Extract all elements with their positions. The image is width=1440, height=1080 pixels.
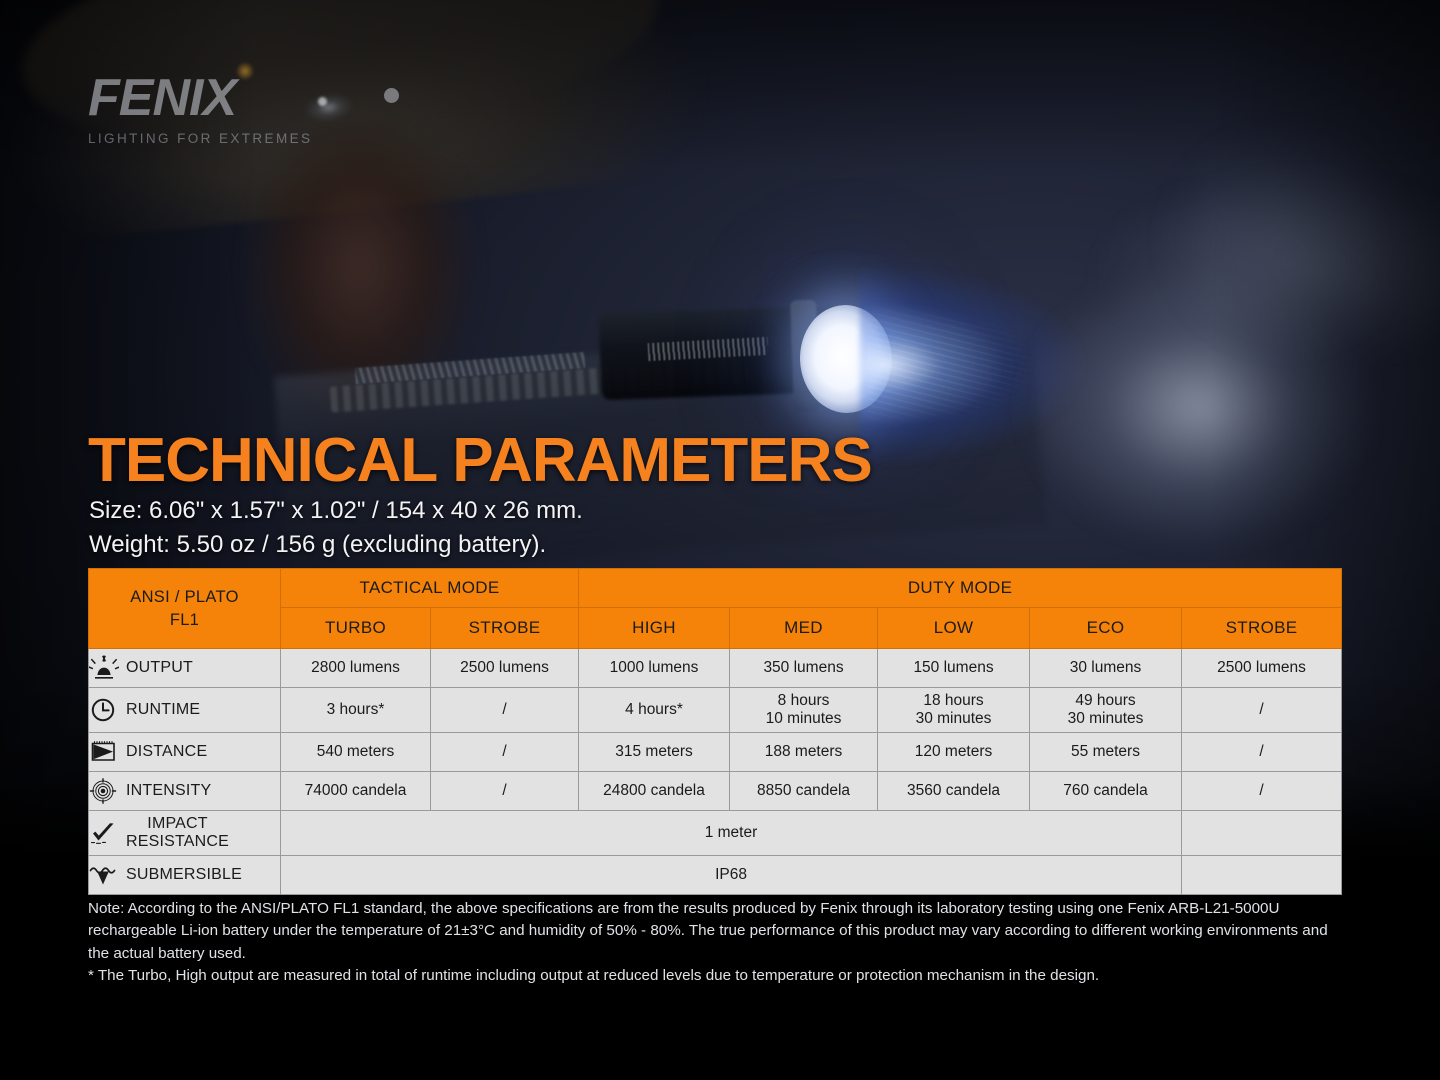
- submersible-icon: [89, 862, 119, 888]
- row-label-line1: IMPACT: [126, 815, 229, 833]
- row-label-text: DISTANCE: [126, 743, 207, 761]
- logo-wordmark: FENIX: [88, 72, 388, 124]
- cell-impact-resistance-empty: [1182, 811, 1342, 856]
- size-line: Size: 6.06" x 1.57" x 1.02" / 154 x 40 x…: [89, 497, 583, 525]
- row-label-text: INTENSITY: [126, 782, 211, 800]
- weight-line: Weight: 5.50 oz / 156 g (excluding batte…: [89, 531, 546, 559]
- table-row: SUBMERSIBLE IP68: [89, 856, 1342, 895]
- slide-canvas: FENIX LIGHTING FOR EXTREMES TECHNICAL PA…: [0, 0, 1440, 1080]
- logo-dot-icon: [384, 88, 399, 103]
- page-title: TECHNICAL PARAMETERS: [88, 430, 872, 492]
- cell-intensity-turbo: 74000 candela: [281, 772, 431, 811]
- cell-intensity-med: 8850 candela: [730, 772, 878, 811]
- table-header: ANSI / PLATO FL1 TACTICAL MODE DUTY MODE…: [89, 569, 1342, 649]
- row-label-text: SUBMERSIBLE: [126, 866, 242, 884]
- table-group-header-row: ANSI / PLATO FL1 TACTICAL MODE DUTY MODE: [89, 569, 1342, 608]
- impact-resistance-icon: [89, 820, 119, 846]
- row-label-runtime: RUNTIME: [89, 688, 281, 733]
- row-label-text: OUTPUT: [126, 659, 193, 677]
- cell-output-turbo: 2800 lumens: [281, 649, 431, 688]
- table-row: IMPACT RESISTANCE 1 meter: [89, 811, 1342, 856]
- table-row: INTENSITY 74000 candela / 24800 candela …: [89, 772, 1342, 811]
- row-label-text: RUNTIME: [126, 701, 200, 719]
- cell-distance-high: 315 meters: [579, 733, 730, 772]
- cell-output-eco: 30 lumens: [1030, 649, 1182, 688]
- cell-intensity-high: 24800 candela: [579, 772, 730, 811]
- header-ansi-plato: ANSI / PLATO FL1: [89, 569, 281, 649]
- header-mode-low: LOW: [878, 608, 1030, 649]
- table-row: DISTANCE 540 meters / 315 meters 188 met…: [89, 733, 1342, 772]
- beam-distance-icon: [89, 739, 119, 765]
- cell-runtime-high: 4 hours*: [579, 688, 730, 733]
- cell-output-strobe-tactical: 2500 lumens: [431, 649, 579, 688]
- header-mode-med: MED: [730, 608, 878, 649]
- cell-runtime-strobe-duty: /: [1182, 688, 1342, 733]
- cell-intensity-strobe-duty: /: [1182, 772, 1342, 811]
- cell-distance-eco: 55 meters: [1030, 733, 1182, 772]
- clock-icon: [89, 697, 119, 723]
- cell-distance-strobe-duty: /: [1182, 733, 1342, 772]
- cell-intensity-strobe-tactical: /: [431, 772, 579, 811]
- header-mode-turbo: TURBO: [281, 608, 431, 649]
- row-label-output: OUTPUT: [89, 649, 281, 688]
- row-label-distance: DISTANCE: [89, 733, 281, 772]
- cell-runtime-turbo: 3 hours*: [281, 688, 431, 733]
- cell-output-med: 350 lumens: [730, 649, 878, 688]
- table-row: RUNTIME 3 hours* / 4 hours* 8 hours 10 m…: [89, 688, 1342, 733]
- table-row: OUTPUT 2800 lumens 2500 lumens 1000 lume…: [89, 649, 1342, 688]
- cell-output-strobe-duty: 2500 lumens: [1182, 649, 1342, 688]
- row-label-intensity: INTENSITY: [89, 772, 281, 811]
- cell-distance-strobe-tactical: /: [431, 733, 579, 772]
- footnote-line-1: Note: According to the ANSI/PLATO FL1 st…: [88, 898, 1350, 965]
- header-mode-eco: ECO: [1030, 608, 1182, 649]
- header-mode-strobe-duty: STROBE: [1182, 608, 1342, 649]
- header-duty-mode: DUTY MODE: [579, 569, 1342, 608]
- header-ansi-plato-line1: ANSI / PLATO: [89, 586, 280, 608]
- cell-distance-turbo: 540 meters: [281, 733, 431, 772]
- row-label-impact-resistance: IMPACT RESISTANCE: [89, 811, 281, 856]
- header-mode-strobe-tactical: STROBE: [431, 608, 579, 649]
- cell-submersible-empty: [1182, 856, 1342, 895]
- header-mode-high: HIGH: [579, 608, 730, 649]
- cell-runtime-med: 8 hours 10 minutes: [730, 688, 878, 733]
- footnote-line-2: * The Turbo, High output are measured in…: [88, 965, 1350, 987]
- cell-distance-low: 120 meters: [878, 733, 1030, 772]
- cell-submersible-value: IP68: [281, 856, 1182, 895]
- cell-impact-resistance-value: 1 meter: [281, 811, 1182, 856]
- footnote: Note: According to the ANSI/PLATO FL1 st…: [88, 898, 1350, 987]
- header-ansi-plato-line2: FL1: [89, 609, 280, 631]
- sunburst-icon: [89, 655, 119, 681]
- fenix-logo: FENIX LIGHTING FOR EXTREMES: [88, 72, 388, 146]
- row-label-line2: RESISTANCE: [126, 833, 229, 851]
- technical-parameters-table: ANSI / PLATO FL1 TACTICAL MODE DUTY MODE…: [88, 568, 1342, 895]
- cell-runtime-strobe-tactical: /: [431, 688, 579, 733]
- cell-intensity-low: 3560 candela: [878, 772, 1030, 811]
- logo-tagline: LIGHTING FOR EXTREMES: [88, 131, 388, 146]
- target-intensity-icon: [89, 778, 119, 804]
- header-tactical-mode: TACTICAL MODE: [281, 569, 579, 608]
- cell-runtime-low: 18 hours 30 minutes: [878, 688, 1030, 733]
- row-label-text: IMPACT RESISTANCE: [126, 815, 229, 851]
- cell-output-low: 150 lumens: [878, 649, 1030, 688]
- table-body: OUTPUT 2800 lumens 2500 lumens 1000 lume…: [89, 649, 1342, 895]
- row-label-submersible: SUBMERSIBLE: [89, 856, 281, 895]
- cell-output-high: 1000 lumens: [579, 649, 730, 688]
- cell-intensity-eco: 760 candela: [1030, 772, 1182, 811]
- cell-runtime-eco: 49 hours 30 minutes: [1030, 688, 1182, 733]
- cell-distance-med: 188 meters: [730, 733, 878, 772]
